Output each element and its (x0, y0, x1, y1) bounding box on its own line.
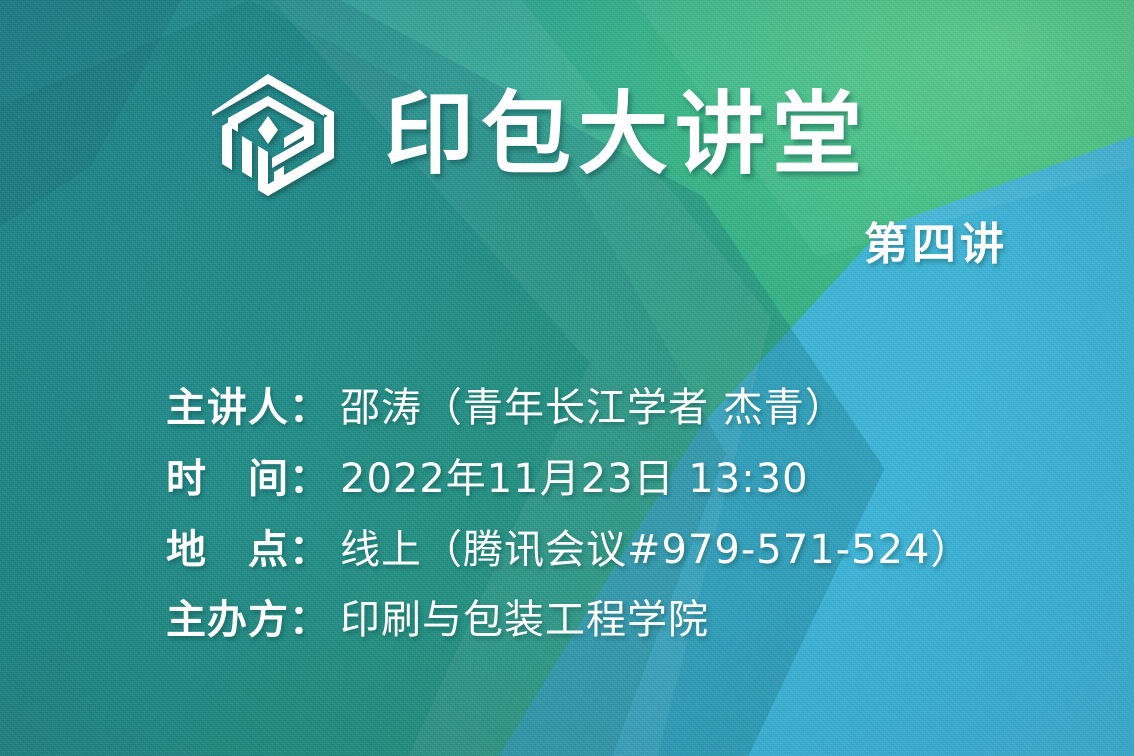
detail-value-speaker: 邵涛（青年长江学者 杰青） (340, 386, 846, 431)
poster-header: 印包大讲堂 (198, 72, 869, 198)
hexagon-cube-logo-icon (198, 72, 338, 198)
detail-row-time: 时 间： 2022年11月23日 13:30 (166, 457, 971, 502)
event-details-list: 主讲人： 邵涛（青年长江学者 杰青） 时 间： 2022年11月23日 13:3… (166, 386, 971, 643)
detail-row-location: 地 点： 线上（腾讯会议#979-571-524） (166, 528, 971, 573)
detail-row-speaker: 主讲人： 邵涛（青年长江学者 杰青） (166, 386, 971, 431)
detail-label-organizer: 主办方： (166, 598, 330, 643)
detail-value-location: 线上（腾讯会议#979-571-524） (340, 528, 971, 573)
page-title: 印包大讲堂 (384, 90, 869, 180)
detail-label-time: 时 间： (166, 457, 330, 502)
event-poster: 印包大讲堂 第四讲 主讲人： 邵涛（青年长江学者 杰青） 时 间： 2022年1… (0, 0, 1134, 756)
detail-label-location: 地 点： (166, 528, 330, 573)
detail-value-time: 2022年11月23日 13:30 (340, 457, 809, 502)
poster-content: 印包大讲堂 第四讲 主讲人： 邵涛（青年长江学者 杰青） 时 间： 2022年1… (0, 0, 1134, 756)
detail-label-speaker: 主讲人： (166, 386, 330, 431)
detail-value-organizer: 印刷与包装工程学院 (340, 598, 709, 643)
poster-subtitle: 第四讲 (864, 208, 1008, 272)
detail-row-organizer: 主办方： 印刷与包装工程学院 (166, 598, 971, 643)
